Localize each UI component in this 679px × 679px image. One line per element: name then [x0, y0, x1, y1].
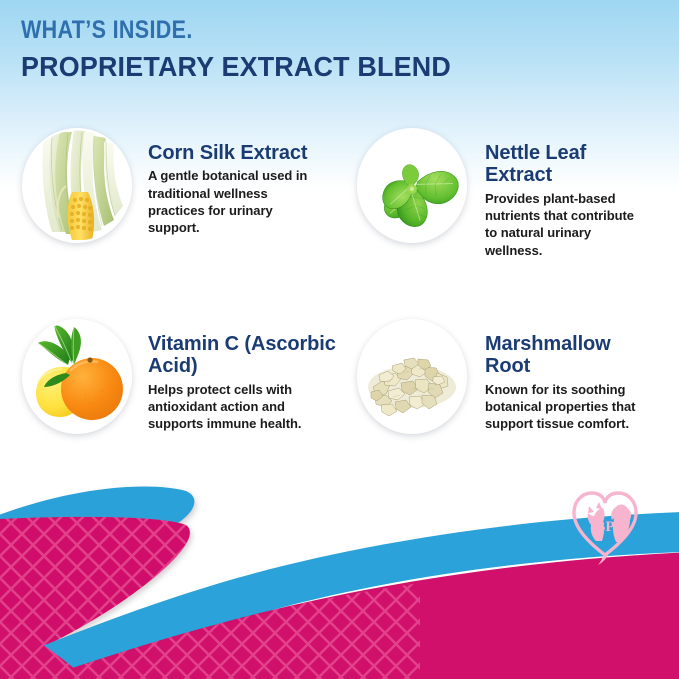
- ingredient-description: Known for its soothing botanical propert…: [485, 381, 645, 433]
- ingredient-description: A gentle botanical used in traditional w…: [148, 167, 326, 236]
- marshmallow-root-photo: [357, 319, 467, 434]
- ingredient-description: Provides plant-based nutrients that cont…: [485, 190, 645, 259]
- nettle-leaf-text: Nettle Leaf Extract Provides plant-based…: [467, 128, 657, 259]
- ingredient-row: Vitamin C (Ascorbic Acid) Helps protect …: [0, 319, 679, 434]
- marshmallow-root-text: Marshmallow Root Known for its soothing …: [467, 319, 657, 433]
- vitamin-c-text: Vitamin C (Ascorbic Acid) Helps protect …: [132, 319, 338, 433]
- ingredient-title: Corn Silk Extract: [148, 142, 326, 164]
- logo-monogram: BP: [595, 519, 614, 535]
- ingredient-card-nettle-leaf: Nettle Leaf Extract Provides plant-based…: [339, 128, 678, 259]
- corn-silk-photo: [22, 128, 132, 243]
- vitamin-c-thumbnail: [22, 319, 132, 434]
- ingredient-card-corn-silk: Corn Silk Extract A gentle botanical use…: [0, 128, 339, 259]
- header-block: WHAT’S INSIDE. PROPRIETARY EXTRACT BLEND: [21, 18, 469, 81]
- brand-banner: BP: [0, 479, 679, 679]
- ingredient-card-vitamin-c: Vitamin C (Ascorbic Acid) Helps protect …: [0, 319, 339, 434]
- corn-silk-text: Corn Silk Extract A gentle botanical use…: [132, 128, 326, 237]
- citrus-vitamin-c-photo: [22, 319, 132, 434]
- page-title: PROPRIETARY EXTRACT BLEND: [21, 53, 451, 81]
- ingredient-title: Nettle Leaf Extract: [485, 142, 657, 187]
- ingredient-description: Helps protect cells with antioxidant act…: [148, 381, 326, 433]
- brand-banner-graphic: BP: [0, 479, 679, 679]
- corn-silk-thumbnail: [22, 128, 132, 243]
- ingredient-title: Marshmallow Root: [485, 333, 657, 378]
- ingredient-title: Vitamin C (Ascorbic Acid): [148, 333, 338, 378]
- nettle-leaf-photo: [357, 128, 467, 243]
- marshmallow-root-thumbnail: [357, 319, 467, 434]
- nettle-leaf-thumbnail: [357, 128, 467, 243]
- kicker-text: WHAT’S INSIDE.: [21, 18, 406, 43]
- ingredient-card-marshmallow-root: Marshmallow Root Known for its soothing …: [339, 319, 678, 434]
- ingredients-infographic: WHAT’S INSIDE. PROPRIETARY EXTRACT BLEND: [0, 0, 679, 679]
- ingredient-grid: Corn Silk Extract A gentle botanical use…: [0, 128, 679, 434]
- ingredient-row: Corn Silk Extract A gentle botanical use…: [0, 128, 679, 259]
